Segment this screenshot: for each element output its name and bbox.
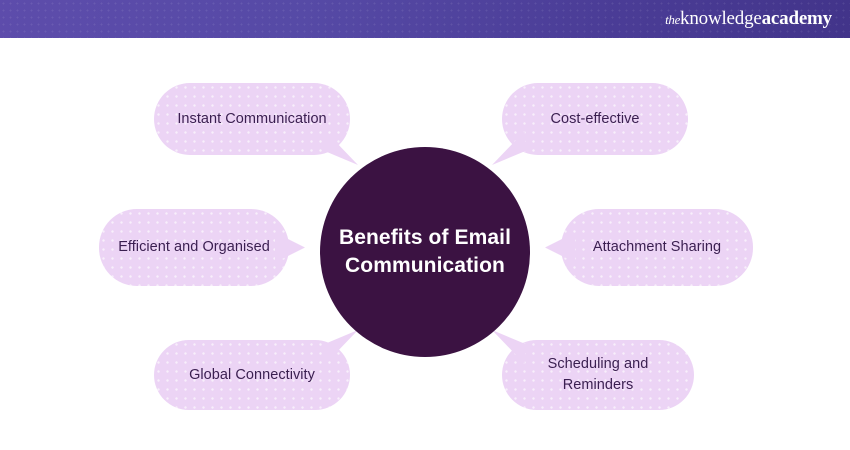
bubble-tail-icon: [324, 131, 358, 165]
bubble-scheduling-and-reminders: Scheduling and Reminders: [502, 340, 694, 410]
bubble-label: Global Connectivity: [175, 365, 329, 386]
bubble-cost-effective: Cost-effective: [502, 83, 688, 155]
center-title: Benefits of Email Communication: [333, 224, 518, 279]
bubble-tail-icon: [324, 330, 358, 364]
brand-logo: theknowledgeacademy: [665, 8, 832, 30]
bubble-instant-communication: Instant Communication: [154, 83, 350, 155]
bubble-tail-icon: [545, 233, 575, 263]
center-circle: Benefits of Email Communication: [320, 147, 530, 357]
bubble-attachment-sharing: Attachment Sharing: [561, 209, 753, 286]
bubble-global-connectivity: Global Connectivity: [154, 340, 350, 410]
bubble-efficient-and-organised: Efficient and Organised: [99, 209, 289, 286]
brand-suffix: academy: [762, 8, 832, 29]
brand-prefix: the: [665, 12, 680, 27]
email-benefits-infographic: theknowledgeacademy Benefits of Email Co…: [0, 0, 850, 450]
bubble-label: Efficient and Organised: [104, 237, 284, 258]
bubble-label: Cost-effective: [536, 109, 653, 130]
brand-mid: knowledge: [680, 8, 762, 29]
bubble-tail-icon: [492, 131, 526, 165]
bubble-label: Scheduling and Reminders: [502, 354, 694, 395]
header-bar: theknowledgeacademy: [0, 0, 850, 38]
bubble-label: Instant Communication: [163, 109, 340, 130]
bubble-label: Attachment Sharing: [579, 237, 735, 258]
